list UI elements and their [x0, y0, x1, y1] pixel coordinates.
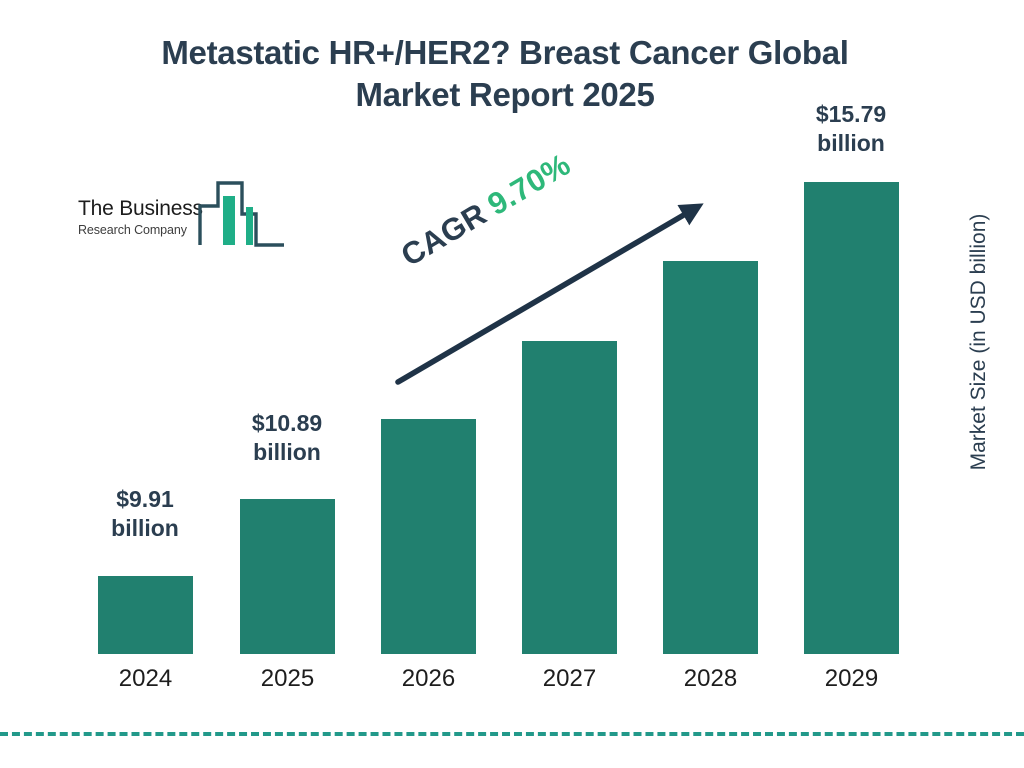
- bar-value-label-2025: $10.89 billion: [217, 409, 357, 468]
- bar-2024: [98, 576, 193, 654]
- bar-value-label-2029-unit: billion: [781, 129, 921, 158]
- bar-value-label-2024-unit: billion: [75, 514, 215, 543]
- x-tick-label-2025: 2025: [240, 667, 335, 691]
- x-tick-label-2027: 2027: [522, 667, 617, 691]
- bar-value-label-2024-amount: $9.91: [75, 485, 215, 514]
- x-tick-label-2029: 2029: [804, 667, 899, 691]
- x-tick-label-2028: 2028: [663, 667, 758, 691]
- bar-value-label-2029: $15.79 billion: [781, 100, 921, 159]
- cagr-label: CAGR: [395, 196, 492, 273]
- x-tick-label-2026: 2026: [381, 667, 476, 691]
- bar-2028: [663, 261, 758, 654]
- y-axis-title: Market Size (in USD billion): [967, 177, 991, 507]
- footer-divider: [0, 732, 1024, 736]
- x-tick-label-2024: 2024: [98, 667, 193, 691]
- bar-2029: [804, 182, 899, 654]
- bar-2026: [381, 419, 476, 654]
- chart-canvas: Metastatic HR+/HER2? Breast Cancer Globa…: [0, 0, 1024, 768]
- bar-2027: [522, 341, 617, 654]
- bar-2025: [240, 499, 335, 654]
- bar-value-label-2025-unit: billion: [217, 438, 357, 467]
- plot-area: $9.91 billion $10.89 billion $15.79 bill…: [0, 0, 1024, 768]
- bar-value-label-2025-amount: $10.89: [217, 409, 357, 438]
- cagr-value: 9.70%: [482, 147, 577, 223]
- cagr-annotation: CAGR9.70%: [395, 147, 577, 274]
- bar-value-label-2029-amount: $15.79: [781, 100, 921, 129]
- bar-value-label-2024: $9.91 billion: [75, 485, 215, 544]
